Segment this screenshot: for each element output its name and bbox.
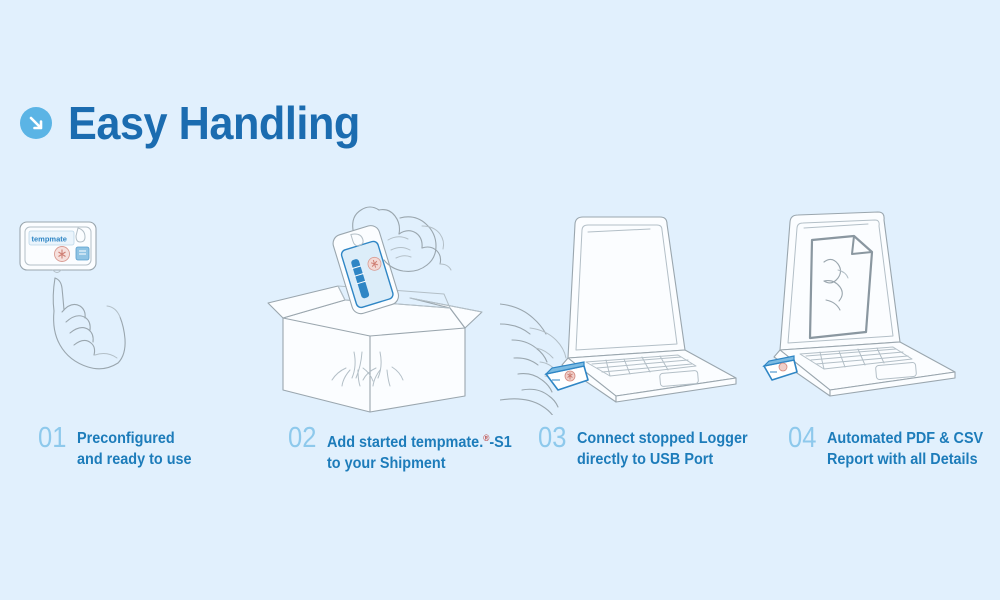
step-03-text: Connect stopped Logger directly to USB P… bbox=[577, 428, 748, 470]
step-02-line2: to your Shipment bbox=[327, 455, 446, 472]
step-01-number: 01 bbox=[38, 426, 66, 451]
header: Easy Handling bbox=[18, 100, 378, 146]
laptop-showing-pdf-report-illustration bbox=[750, 200, 1000, 415]
step-01-caption: 01 Preconfigured and ready to use bbox=[0, 428, 250, 470]
step-01-line1: Preconfigured bbox=[77, 430, 175, 447]
step-02-text: Add started tempmate.®-S1 to your Shipme… bbox=[327, 428, 512, 474]
usb-logger bbox=[764, 356, 797, 380]
arrow-down-right-circle-icon bbox=[18, 105, 54, 141]
step-02: 02 Add started tempmate.®-S1 to your Shi… bbox=[250, 200, 500, 510]
step-02-line1-pre: Add started tempmate. bbox=[327, 434, 483, 451]
step-01-text: Preconfigured and ready to use bbox=[77, 428, 192, 470]
hand-with-logger bbox=[500, 304, 566, 415]
step-04-text: Automated PDF & CSV Report with all Deta… bbox=[827, 428, 983, 470]
step-03: 03 Connect stopped Logger directly to US… bbox=[500, 200, 750, 510]
step-04: 04 Automated PDF & CSV Report with all D… bbox=[750, 200, 1000, 510]
step-04-line1: Automated PDF & CSV bbox=[827, 430, 983, 447]
step-04-number: 04 bbox=[788, 426, 816, 451]
step-01: tempmate bbox=[0, 200, 250, 510]
hand-dropping-logger-into-box-illustration bbox=[250, 200, 500, 415]
step-02-number: 02 bbox=[288, 426, 316, 451]
laptop bbox=[562, 217, 736, 402]
step-04-line2: Report with all Details bbox=[827, 451, 978, 468]
hand-inserting-logger-into-laptop-usb-illustration bbox=[500, 200, 750, 415]
step-02-caption: 02 Add started tempmate.®-S1 to your Shi… bbox=[250, 428, 500, 474]
step-03-caption: 03 Connect stopped Logger directly to US… bbox=[500, 428, 750, 470]
step-04-caption: 04 Automated PDF & CSV Report with all D… bbox=[750, 428, 1000, 470]
pointing-hand bbox=[53, 278, 125, 369]
hand-pointing-at-logger-device-illustration: tempmate bbox=[0, 200, 250, 415]
page-title: Easy Handling bbox=[68, 100, 360, 146]
easy-handling-banner: Easy Handling tempmate bbox=[0, 0, 1000, 600]
steps-row: tempmate bbox=[0, 200, 1000, 510]
step-03-line2: directly to USB Port bbox=[577, 451, 713, 468]
svg-text:tempmate: tempmate bbox=[32, 235, 67, 244]
step-03-line1: Connect stopped Logger bbox=[577, 430, 748, 447]
step-03-number: 03 bbox=[538, 426, 566, 451]
usb-logger bbox=[546, 362, 588, 390]
logger-device: tempmate bbox=[20, 222, 96, 273]
step-01-line2: and ready to use bbox=[77, 451, 192, 468]
pdf-document-icon bbox=[810, 236, 872, 338]
